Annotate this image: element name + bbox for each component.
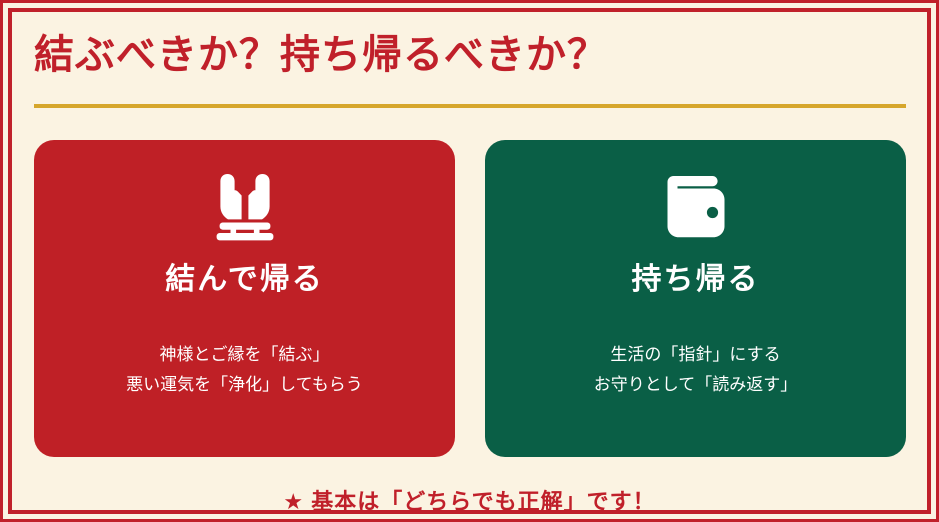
card-take-home[interactable]: 持ち帰る 生活の「指針」にする お守りとして「読み返す」 bbox=[485, 140, 906, 457]
slide-root: 結ぶべきか？持ち帰るべきか？ bbox=[0, 0, 939, 522]
card-bind-and-return[interactable]: 結んで帰る 神様とご縁を「結ぶ」 悪い運気を「浄化」してもらう bbox=[34, 140, 455, 457]
title-divider bbox=[34, 104, 906, 108]
footer-note: ★ 基本は「どちらでも正解」です！ bbox=[0, 484, 939, 516]
page-title: 結ぶべきか？持ち帰るべきか？ bbox=[34, 32, 608, 78]
card-title: 持ち帰る bbox=[632, 262, 760, 298]
cards-row: 結んで帰る 神様とご縁を「結ぶ」 悪い運気を「浄化」してもらう 持ち帰る bbox=[34, 140, 906, 457]
card-description: 神様とご縁を「結ぶ」 悪い運気を「浄化」してもらう bbox=[126, 340, 363, 400]
wallet-icon bbox=[658, 170, 734, 244]
slide-content: 結ぶべきか？持ち帰るべきか？ bbox=[12, 12, 927, 510]
praying-hands-icon bbox=[207, 170, 283, 244]
card-title: 結んで帰る bbox=[165, 262, 324, 298]
card-description: 生活の「指針」にする お守りとして「読み返す」 bbox=[594, 340, 798, 400]
